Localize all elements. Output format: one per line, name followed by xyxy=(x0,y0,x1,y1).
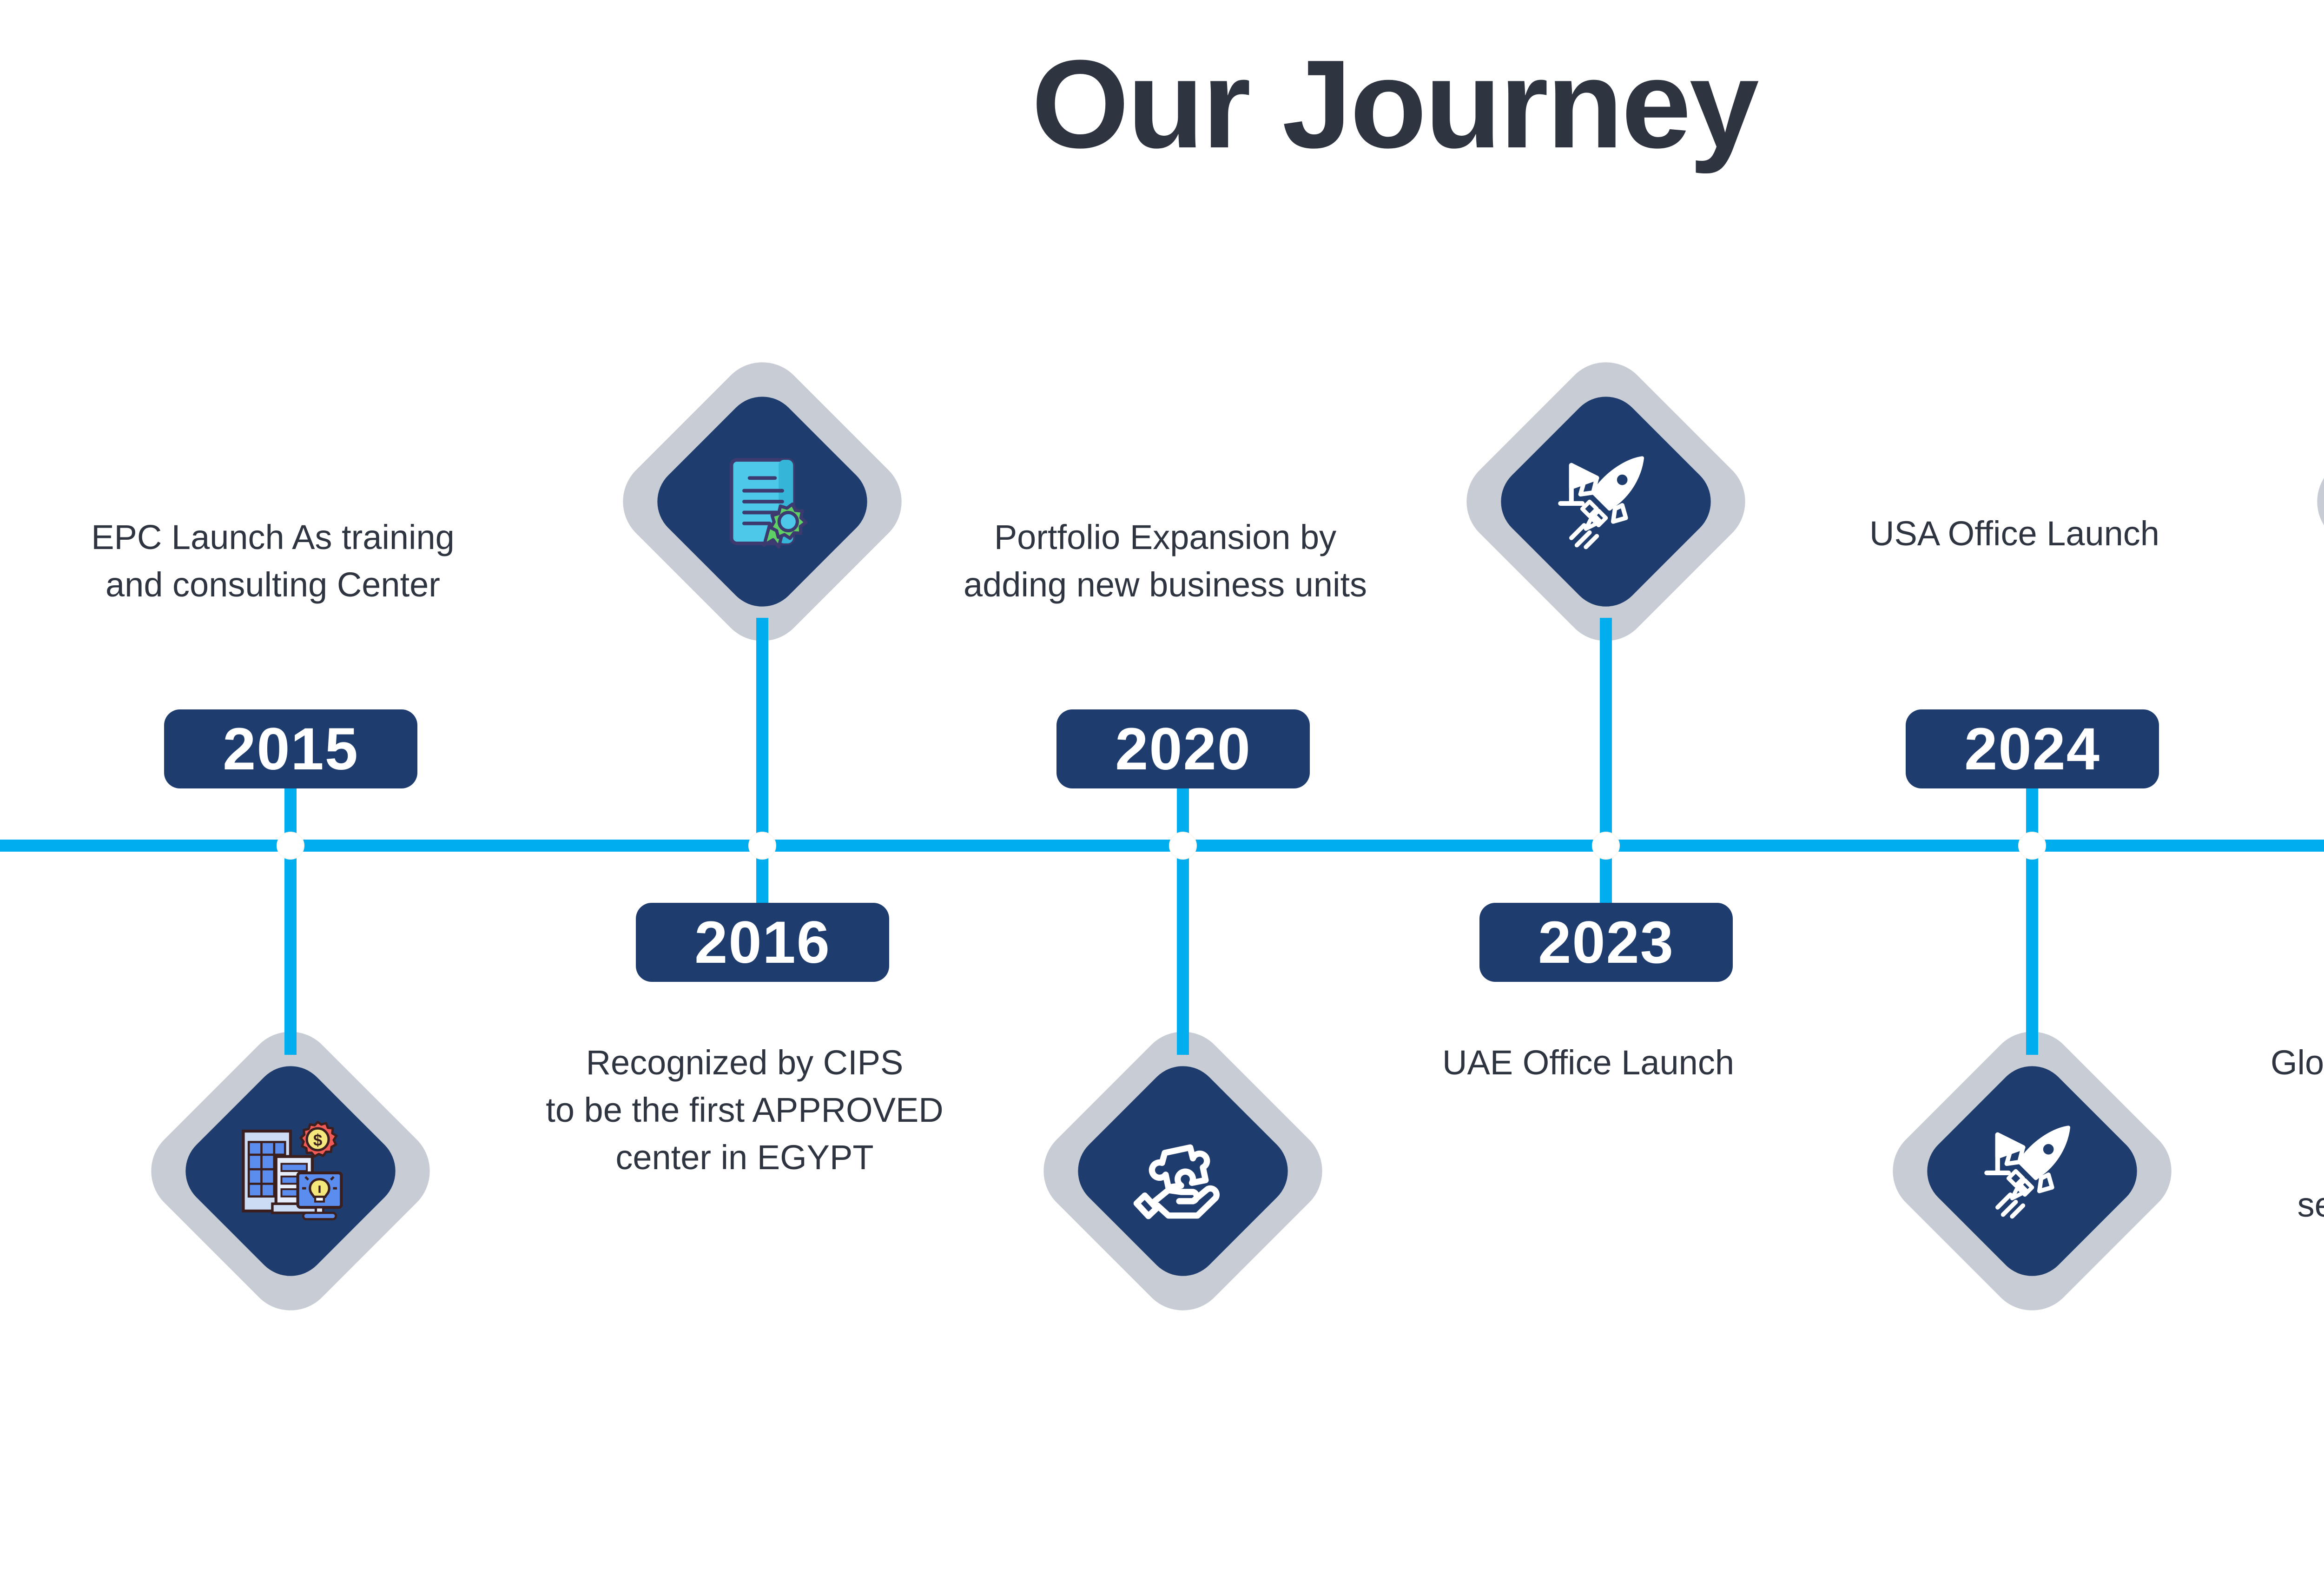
milestone-description-2023: UAE Office Launch xyxy=(1442,1039,1734,1086)
rocket-launch-icon xyxy=(1457,353,1755,650)
year-label: 2024 xyxy=(1964,715,2100,783)
milestone-icon-marker-2015[interactable]: $ xyxy=(142,1022,439,1320)
timeline-axis-bar xyxy=(0,840,2324,852)
timeline-node-2015 xyxy=(277,833,304,859)
year-badge-2023[interactable]: 2023 xyxy=(1479,903,1733,982)
year-label: 2015 xyxy=(223,715,359,783)
year-label: 2016 xyxy=(694,908,831,977)
certificate-award-icon xyxy=(614,353,911,650)
timeline-node-2020 xyxy=(1170,833,1196,859)
timeline-node-2023 xyxy=(1593,833,1619,859)
milestone-description-2030: Global Recognition as world class procur… xyxy=(2264,1039,2324,1229)
year-label: 2023 xyxy=(1538,908,1674,977)
timeline-node-2024 xyxy=(2019,833,2045,859)
connector-to-icon-2020 xyxy=(1177,846,1189,1055)
milestone-description-2024: USA Office Launch xyxy=(1869,510,2159,557)
svg-text:$: $ xyxy=(313,1131,323,1149)
page-title: Our Journey xyxy=(0,42,2324,167)
rocket-launch-icon xyxy=(1883,1022,2181,1320)
hand-puzzle-icon xyxy=(1034,1022,1332,1320)
milestone-icon-marker-2020[interactable] xyxy=(1034,1022,1332,1320)
connector-to-icon-2015 xyxy=(284,846,297,1055)
journey-timeline-infographic: Our Journey 2015 $ EPC La xyxy=(0,0,2324,1569)
globe-earth-icon xyxy=(2308,353,2324,650)
year-badge-2024[interactable]: 2024 xyxy=(1906,709,2159,788)
milestone-icon-marker-2030[interactable] xyxy=(2308,353,2324,650)
milestone-description-2015: EPC Launch As training and consulting Ce… xyxy=(91,514,455,609)
milestone-description-2020: Portfolio Expansion by adding new busine… xyxy=(964,514,1367,609)
connector-to-icon-2024 xyxy=(2026,846,2038,1055)
connector-to-icon-2023 xyxy=(1600,618,1612,846)
year-label: 2020 xyxy=(1115,715,1251,783)
timeline-node-2016 xyxy=(749,833,775,859)
company-buildings-icon: $ xyxy=(142,1022,439,1320)
connector-to-icon-2016 xyxy=(756,618,768,846)
milestone-description-2016: Recognized by CIPS to be the first APPRO… xyxy=(546,1039,943,1181)
milestone-icon-marker-2024[interactable] xyxy=(1883,1022,2181,1320)
year-badge-2015[interactable]: 2015 xyxy=(164,709,417,788)
milestone-icon-marker-2016[interactable] xyxy=(614,353,911,650)
year-badge-2016[interactable]: 2016 xyxy=(636,903,889,982)
milestone-icon-marker-2023[interactable] xyxy=(1457,353,1755,650)
year-badge-2020[interactable]: 2020 xyxy=(1056,709,1310,788)
